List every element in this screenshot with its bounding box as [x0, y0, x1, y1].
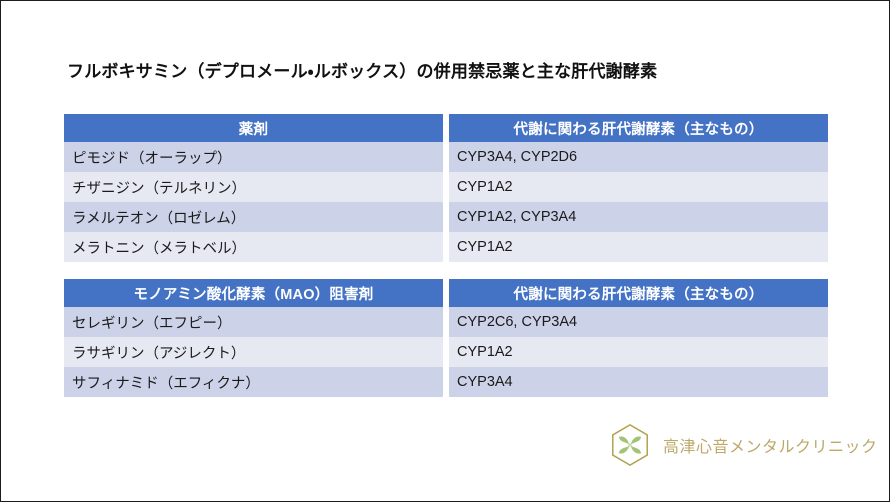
column-header-mao: モノアミン酸化酵素（MAO）阻害剤: [64, 279, 443, 307]
column-header-enzyme: 代謝に関わる肝代謝酵素（主なもの）: [449, 279, 828, 307]
cell-enzyme: CYP1A2: [449, 172, 828, 202]
column-header-drug: 薬剤: [64, 114, 443, 142]
table-mao-inhibitors: モノアミン酸化酵素（MAO）阻害剤 代謝に関わる肝代謝酵素（主なもの） セレギリ…: [64, 279, 828, 397]
cell-drug-name: セレギリン（エフピー）: [64, 307, 443, 337]
cell-drug-name: メラトニン（メラトベル）: [64, 232, 443, 262]
cell-drug-name: ラサギリン（アジレクト）: [64, 337, 443, 367]
table-row: ラサギリン（アジレクト） CYP1A2: [64, 337, 828, 367]
table-row: ラメルテオン（ロゼレム） CYP1A2, CYP3A4: [64, 202, 828, 232]
cell-drug-name: ラメルテオン（ロゼレム）: [64, 202, 443, 232]
cell-drug-name: チザニジン（テルネリン）: [64, 172, 443, 202]
table-row: サフィナミド（エフィクナ） CYP3A4: [64, 367, 828, 397]
cell-enzyme: CYP3A4: [449, 367, 828, 397]
cell-enzyme: CYP2C6, CYP3A4: [449, 307, 828, 337]
clinic-branding: 高津心音メンタルクリニック: [607, 422, 878, 468]
table-row: ピモジド（オーラップ） CYP3A4, CYP2D6: [64, 142, 828, 172]
table-row: チザニジン（テルネリン） CYP1A2: [64, 172, 828, 202]
clinic-name: 高津心音メンタルクリニック: [663, 433, 878, 457]
cell-enzyme: CYP1A2: [449, 232, 828, 262]
cell-enzyme: CYP1A2: [449, 337, 828, 367]
cell-drug-name: サフィナミド（エフィクナ）: [64, 367, 443, 397]
cell-enzyme: CYP1A2, CYP3A4: [449, 202, 828, 232]
table-header-row: 薬剤 代謝に関わる肝代謝酵素（主なもの）: [64, 114, 828, 142]
cell-enzyme: CYP3A4, CYP2D6: [449, 142, 828, 172]
table-row: セレギリン（エフピー） CYP2C6, CYP3A4: [64, 307, 828, 337]
mao-enzyme-table: モノアミン酸化酵素（MAO）阻害剤 代謝に関わる肝代謝酵素（主なもの） セレギリ…: [64, 279, 828, 397]
hexagon-clover-logo-icon: [607, 422, 653, 468]
slide-page: フルボキサミン（デプロメール・ルボックス）の併用禁忌薬と主な肝代謝酵素 薬剤 代…: [0, 0, 890, 502]
column-header-enzyme: 代謝に関わる肝代謝酵素（主なもの）: [449, 114, 828, 142]
cell-drug-name: ピモジド（オーラップ）: [64, 142, 443, 172]
table-contraindicated-drugs: 薬剤 代謝に関わる肝代謝酵素（主なもの） ピモジド（オーラップ） CYP3A4,…: [64, 114, 828, 262]
table-header-row: モノアミン酸化酵素（MAO）阻害剤 代謝に関わる肝代謝酵素（主なもの）: [64, 279, 828, 307]
table-row: メラトニン（メラトベル） CYP1A2: [64, 232, 828, 262]
page-title: フルボキサミン（デプロメール・ルボックス）の併用禁忌薬と主な肝代謝酵素: [67, 57, 657, 82]
drug-enzyme-table: 薬剤 代謝に関わる肝代謝酵素（主なもの） ピモジド（オーラップ） CYP3A4,…: [64, 114, 828, 262]
